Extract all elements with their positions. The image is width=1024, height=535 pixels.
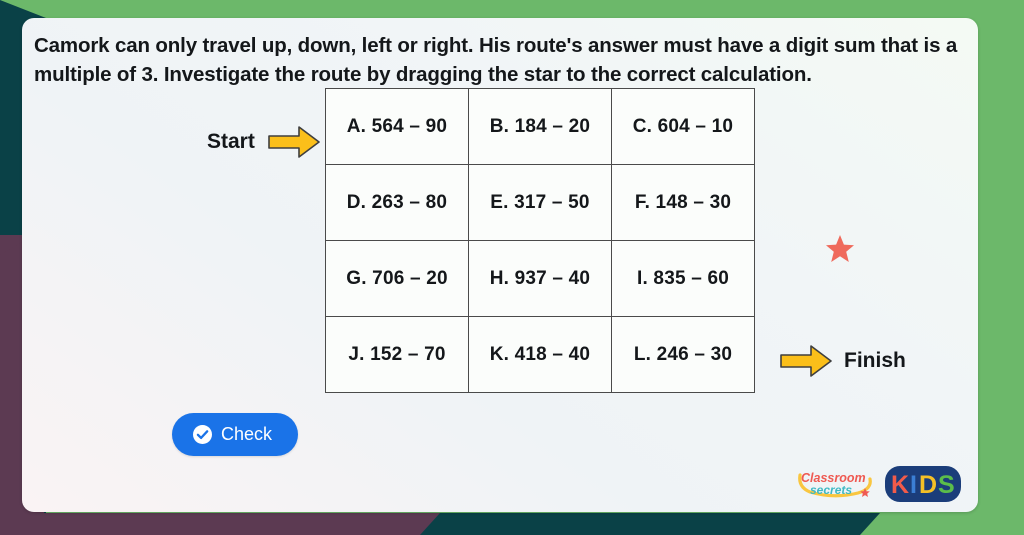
grid-cell-h[interactable]: H. 937 – 40 — [469, 241, 612, 317]
grid-cell-l[interactable]: L. 246 – 30 — [612, 317, 755, 393]
calculation-grid: A. 564 – 90 B. 184 – 20 C. 604 – 10 D. 2… — [325, 88, 755, 393]
check-button[interactable]: Check — [172, 413, 298, 456]
svg-text:K: K — [891, 471, 909, 499]
star-icon[interactable] — [825, 234, 855, 268]
branding-logos: Classroom secrets K I D S — [796, 464, 962, 504]
table-row: D. 263 – 80 E. 317 – 50 F. 148 – 30 — [326, 165, 755, 241]
finish-marker: Finish — [780, 345, 906, 377]
slide-screen: Camork can only travel up, down, left or… — [0, 0, 1024, 535]
grid-cell-b[interactable]: B. 184 – 20 — [469, 89, 612, 165]
table-row: A. 564 – 90 B. 184 – 20 C. 604 – 10 — [326, 89, 755, 165]
grid-cell-k[interactable]: K. 418 – 40 — [469, 317, 612, 393]
grid-cell-j[interactable]: J. 152 – 70 — [326, 317, 469, 393]
start-label: Start — [207, 130, 255, 154]
svg-text:D: D — [919, 471, 937, 499]
grid-cell-i[interactable]: I. 835 – 60 — [612, 241, 755, 317]
frame-purple-bottom-band — [0, 513, 440, 535]
right-arrow-icon — [780, 345, 832, 377]
grid-cell-g[interactable]: G. 706 – 20 — [326, 241, 469, 317]
page-title: Camork can only travel up, down, left or… — [34, 31, 968, 89]
classroom-secrets-logo: Classroom secrets — [796, 467, 876, 501]
circle-check-icon — [193, 425, 212, 444]
grid-cell-d[interactable]: D. 263 – 80 — [326, 165, 469, 241]
kids-logo: K I D S — [884, 464, 962, 504]
svg-text:I: I — [910, 471, 917, 499]
grid-cell-a[interactable]: A. 564 – 90 — [326, 89, 469, 165]
start-marker: Start — [207, 126, 320, 158]
table-row: G. 706 – 20 H. 937 – 40 I. 835 – 60 — [326, 241, 755, 317]
svg-text:secrets: secrets — [810, 483, 852, 497]
finish-label: Finish — [844, 349, 906, 373]
check-button-label: Check — [221, 424, 272, 445]
table-row: J. 152 – 70 K. 418 – 40 L. 246 – 30 — [326, 317, 755, 393]
grid-cell-f[interactable]: F. 148 – 30 — [612, 165, 755, 241]
grid-cell-c[interactable]: C. 604 – 10 — [612, 89, 755, 165]
grid-cell-e[interactable]: E. 317 – 50 — [469, 165, 612, 241]
svg-text:S: S — [938, 471, 955, 499]
right-arrow-icon — [268, 126, 320, 158]
activity-card: Camork can only travel up, down, left or… — [22, 18, 978, 512]
